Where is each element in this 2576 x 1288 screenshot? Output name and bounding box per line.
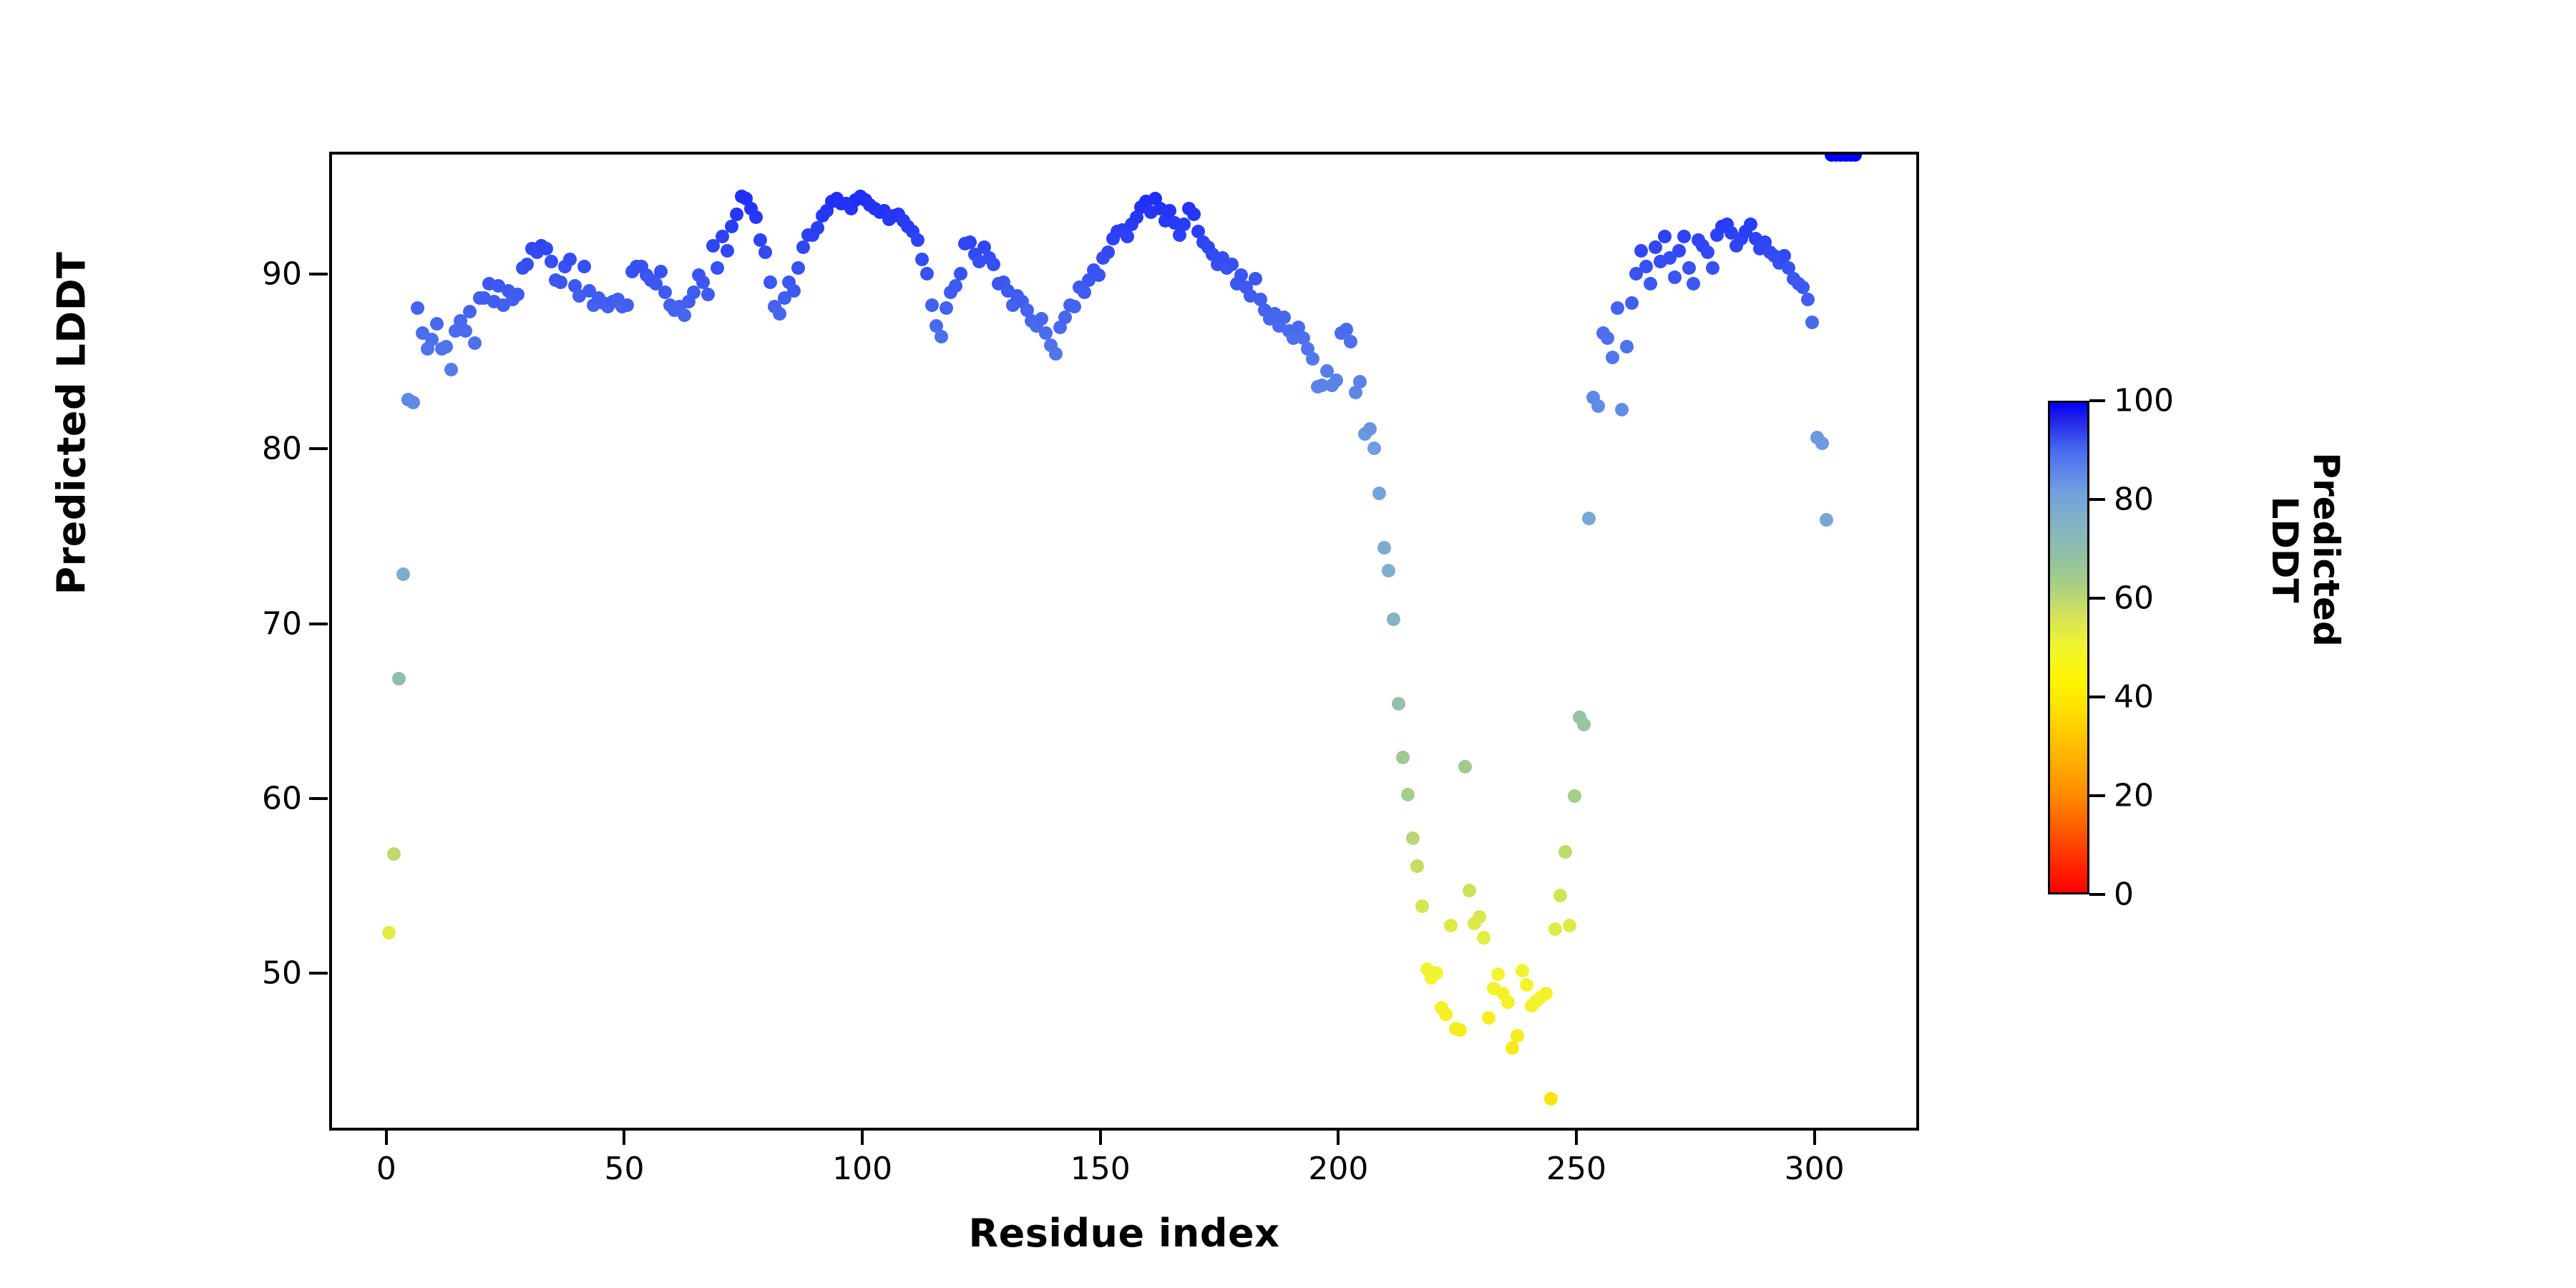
data-point bbox=[1672, 244, 1686, 258]
data-point bbox=[1591, 399, 1605, 413]
data-point bbox=[1544, 1092, 1558, 1106]
data-point bbox=[1439, 1008, 1453, 1021]
colorbar-tick-label: 20 bbox=[2114, 778, 2154, 814]
data-point bbox=[1677, 230, 1691, 243]
data-point bbox=[520, 258, 534, 271]
data-point bbox=[396, 567, 410, 581]
y-axis-label: Predicted LDDT bbox=[49, 66, 94, 781]
scatter-plot-area bbox=[332, 155, 1916, 1128]
data-point bbox=[1577, 718, 1591, 731]
data-point bbox=[1620, 340, 1634, 353]
data-point bbox=[1458, 760, 1472, 774]
data-point bbox=[701, 288, 715, 301]
data-point bbox=[1687, 277, 1700, 291]
data-point bbox=[654, 265, 668, 278]
data-point bbox=[1815, 436, 1829, 450]
data-point bbox=[1035, 312, 1048, 326]
data-point bbox=[1805, 316, 1819, 329]
data-point bbox=[382, 926, 396, 940]
data-point bbox=[1092, 268, 1106, 282]
data-point bbox=[1582, 512, 1596, 525]
data-point bbox=[773, 307, 786, 321]
colorbar-tick-label: 40 bbox=[2114, 679, 2154, 716]
data-point bbox=[1396, 751, 1410, 764]
data-point bbox=[658, 286, 672, 299]
data-point bbox=[1387, 613, 1400, 626]
data-point bbox=[925, 298, 939, 312]
data-point bbox=[987, 258, 1000, 271]
data-point bbox=[1706, 261, 1719, 275]
data-point bbox=[935, 330, 948, 343]
x-tick bbox=[1813, 1131, 1816, 1145]
data-point bbox=[620, 298, 634, 312]
data-point bbox=[763, 275, 777, 289]
data-point bbox=[1340, 323, 1353, 336]
data-point bbox=[1563, 919, 1576, 932]
x-axis-label: Residue index bbox=[329, 1211, 1919, 1256]
data-point bbox=[1501, 995, 1515, 1009]
data-point bbox=[1058, 311, 1072, 324]
data-point bbox=[1634, 244, 1648, 258]
data-point bbox=[1078, 286, 1091, 299]
data-point bbox=[721, 244, 734, 258]
colorbar-gradient bbox=[2048, 401, 2089, 894]
data-point bbox=[1511, 1029, 1524, 1043]
data-point bbox=[1668, 270, 1682, 284]
data-point bbox=[711, 261, 724, 275]
x-tick bbox=[623, 1131, 625, 1145]
data-point bbox=[1277, 311, 1291, 324]
colorbar-label: Predicted LDDT bbox=[2264, 406, 2347, 693]
x-tick bbox=[1099, 1131, 1102, 1145]
data-point bbox=[1820, 513, 1833, 527]
data-point bbox=[459, 324, 472, 338]
y-tick bbox=[309, 972, 328, 975]
data-point bbox=[540, 242, 553, 255]
data-point bbox=[1682, 261, 1696, 275]
plot-axes-frame bbox=[329, 152, 1919, 1131]
data-point bbox=[749, 210, 763, 224]
y-tick-label: 90 bbox=[262, 256, 302, 293]
data-point bbox=[1101, 245, 1115, 259]
colorbar-tick-label: 80 bbox=[2114, 482, 2154, 518]
data-point bbox=[1568, 789, 1581, 803]
y-tick-label: 50 bbox=[262, 955, 302, 992]
data-point bbox=[1601, 331, 1614, 345]
data-point bbox=[1801, 293, 1815, 306]
colorbar-tick bbox=[2089, 498, 2105, 501]
x-tick-label: 100 bbox=[832, 1151, 892, 1187]
x-tick bbox=[1575, 1131, 1578, 1145]
data-point bbox=[915, 253, 929, 266]
data-point bbox=[563, 253, 577, 266]
data-point bbox=[1482, 1011, 1496, 1025]
data-point bbox=[1558, 845, 1572, 859]
data-point bbox=[1611, 301, 1624, 315]
data-point bbox=[1701, 245, 1714, 259]
data-point bbox=[468, 336, 482, 350]
y-tick-label: 60 bbox=[262, 780, 302, 816]
y-tick-label: 80 bbox=[262, 431, 302, 467]
data-point bbox=[406, 396, 420, 409]
data-point bbox=[758, 245, 772, 259]
data-point bbox=[1353, 375, 1367, 389]
data-point bbox=[1444, 919, 1458, 932]
data-point bbox=[1382, 564, 1395, 577]
data-point bbox=[411, 301, 424, 315]
colorbar-tick bbox=[2089, 696, 2105, 698]
data-point bbox=[1306, 352, 1319, 366]
colorbar-tick bbox=[2089, 893, 2105, 896]
chart-figure: 050100150200250300 5060708090 Residue in… bbox=[0, 0, 2576, 1288]
y-tick bbox=[309, 797, 328, 800]
y-tick bbox=[309, 447, 328, 450]
y-tick-label: 70 bbox=[262, 605, 302, 642]
x-tick-label: 300 bbox=[1785, 1151, 1845, 1187]
data-point bbox=[949, 279, 962, 293]
data-point bbox=[444, 363, 458, 376]
data-point bbox=[1249, 272, 1262, 286]
data-point bbox=[1187, 208, 1201, 221]
data-point bbox=[1163, 204, 1176, 218]
data-point bbox=[1644, 277, 1657, 291]
data-point bbox=[387, 847, 401, 861]
data-point bbox=[725, 220, 738, 233]
colorbar-tick bbox=[2089, 399, 2105, 402]
data-point bbox=[1548, 922, 1562, 936]
data-point bbox=[1392, 697, 1405, 711]
data-point bbox=[439, 340, 453, 353]
data-point bbox=[1473, 910, 1486, 924]
data-point bbox=[1848, 155, 1862, 162]
data-point bbox=[696, 275, 710, 289]
data-point bbox=[678, 308, 691, 322]
data-point bbox=[940, 301, 953, 315]
data-point bbox=[1453, 1023, 1467, 1037]
data-point bbox=[1049, 347, 1063, 361]
data-point bbox=[791, 261, 805, 275]
colorbar-tick-label: 60 bbox=[2114, 580, 2154, 617]
x-tick bbox=[1337, 1131, 1340, 1145]
data-point bbox=[1539, 987, 1553, 1000]
data-point bbox=[1372, 487, 1386, 500]
data-point bbox=[811, 221, 824, 235]
data-point bbox=[1477, 931, 1491, 945]
x-tick bbox=[861, 1131, 864, 1145]
data-point bbox=[1658, 230, 1672, 243]
data-point bbox=[1615, 403, 1629, 416]
data-point bbox=[1553, 889, 1567, 902]
data-point bbox=[787, 284, 801, 298]
data-point bbox=[1625, 296, 1639, 310]
data-point bbox=[1363, 422, 1377, 436]
data-point bbox=[1401, 788, 1415, 801]
data-point bbox=[1430, 966, 1443, 980]
data-point bbox=[1606, 351, 1619, 364]
data-point bbox=[1491, 967, 1505, 981]
x-tick-label: 250 bbox=[1546, 1151, 1606, 1187]
data-point bbox=[796, 240, 810, 254]
colorbar-tick bbox=[2089, 597, 2105, 600]
data-point bbox=[1377, 541, 1391, 555]
data-point bbox=[1516, 964, 1529, 977]
data-point bbox=[392, 672, 406, 686]
data-point bbox=[1367, 441, 1381, 455]
data-point bbox=[1406, 831, 1420, 845]
y-tick bbox=[309, 273, 328, 275]
x-tick-label: 0 bbox=[376, 1151, 396, 1187]
data-point bbox=[1744, 218, 1757, 231]
x-tick-label: 200 bbox=[1308, 1151, 1368, 1187]
data-point bbox=[954, 267, 967, 280]
data-point bbox=[1506, 1041, 1519, 1055]
data-point bbox=[1410, 859, 1424, 873]
x-tick-label: 50 bbox=[604, 1151, 644, 1187]
data-point bbox=[577, 260, 591, 273]
x-tick bbox=[385, 1131, 388, 1145]
data-point bbox=[545, 255, 558, 268]
data-point bbox=[430, 317, 444, 331]
data-point bbox=[1177, 218, 1191, 231]
data-point bbox=[1344, 335, 1357, 348]
data-point bbox=[963, 235, 977, 249]
colorbar-tick-label: 100 bbox=[2114, 383, 2174, 419]
colorbar-tick-label: 0 bbox=[2114, 877, 2134, 913]
data-point bbox=[1415, 899, 1429, 913]
data-point bbox=[920, 267, 934, 280]
data-point bbox=[1121, 230, 1134, 243]
x-tick-label: 150 bbox=[1070, 1151, 1131, 1187]
data-point bbox=[911, 233, 924, 247]
data-point bbox=[554, 275, 567, 289]
data-point bbox=[1068, 300, 1081, 313]
data-point bbox=[730, 208, 743, 221]
data-point bbox=[1039, 326, 1053, 340]
data-point bbox=[1649, 240, 1662, 254]
data-point bbox=[1639, 260, 1653, 273]
data-point bbox=[511, 288, 525, 301]
y-tick bbox=[309, 623, 328, 625]
data-point bbox=[1330, 374, 1343, 387]
data-point bbox=[1463, 884, 1476, 897]
colorbar-tick bbox=[2089, 794, 2105, 797]
data-point bbox=[463, 305, 477, 318]
colorbar: 020406080100 Predicted LDDT bbox=[2048, 401, 2492, 902]
data-point bbox=[1520, 978, 1533, 992]
